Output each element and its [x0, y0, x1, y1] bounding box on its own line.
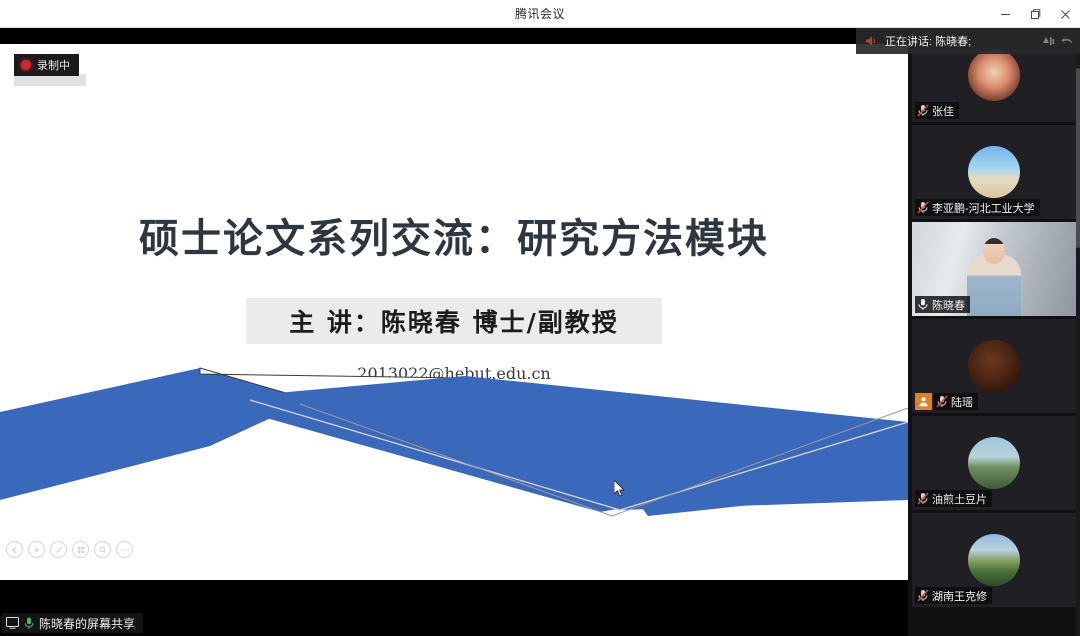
participant-name: 张佳 [932, 103, 954, 119]
slide-title: 硕士论文系列交流：研究方法模块 [0, 206, 908, 264]
avatar [968, 340, 1020, 392]
participant-rail[interactable]: 张佳 李亚鹏-河北工业大学 [908, 28, 1080, 636]
screen-share-chip: 陈晓春的屏幕共享 [2, 613, 143, 633]
participant-name-chip: 陆瑶 [934, 393, 978, 410]
microphone-icon [917, 298, 929, 311]
avatar [968, 437, 1020, 489]
pen-tool-button[interactable] [50, 541, 67, 558]
participant-tile-active-speaker[interactable]: 陈晓春 [912, 222, 1076, 316]
avatar [968, 49, 1020, 101]
participant-name: 陈晓春 [932, 297, 965, 313]
recording-dot-icon [21, 60, 31, 70]
screen-share-status-bar: 陈晓春的屏幕共享 [0, 610, 908, 636]
participant-name-chip: 张佳 [915, 102, 959, 119]
more-options-button[interactable] [116, 541, 133, 558]
participant-name: 李亚鹏-河北工业大学 [932, 200, 1035, 216]
participant-name-chip: 湖南王克修 [915, 587, 992, 604]
participant-name-chip: 李亚鹏-河北工业大学 [915, 199, 1040, 216]
zoom-slide-button[interactable] [94, 541, 111, 558]
speaking-audio-icon [864, 34, 878, 48]
host-badge-icon [915, 393, 932, 410]
collapse-arrow-icon[interactable] [1060, 35, 1074, 48]
participant-name: 湖南王克修 [932, 588, 987, 604]
minimize-button[interactable] [990, 0, 1020, 28]
participant-rail-scrollbar[interactable] [1076, 28, 1080, 636]
microphone-muted-icon [936, 395, 948, 408]
microphone-muted-icon [917, 492, 929, 505]
screen-share-label: 陈晓春的屏幕共享 [39, 615, 135, 632]
all-slides-grid-button[interactable] [72, 541, 89, 558]
previous-slide-button[interactable] [6, 541, 23, 558]
ppt-presenter-toolbar[interactable] [6, 541, 133, 558]
microphone-icon [24, 617, 34, 630]
tencent-meeting-window: 腾讯会议 硕士论文系列交流：研究方法模块 主 讲：陈晓春 博士/副教授 2013… [0, 0, 1080, 636]
screen-share-icon [6, 617, 19, 629]
avatar [968, 146, 1020, 198]
next-slide-button[interactable] [28, 541, 45, 558]
participant-tile[interactable]: 油煎土豆片 [912, 416, 1076, 510]
presentation-slide: 硕士论文系列交流：研究方法模块 主 讲：陈晓春 博士/副教授 2013022@h… [0, 44, 908, 580]
shared-screen-stage[interactable]: 硕士论文系列交流：研究方法模块 主 讲：陈晓春 博士/副教授 2013022@h… [0, 28, 908, 636]
slide-decorative-ribbon-graphic [0, 360, 908, 580]
maximize-button[interactable] [1020, 0, 1050, 28]
microphone-muted-icon [917, 201, 929, 214]
recording-label: 录制中 [37, 57, 70, 73]
active-speaker-label: 正在讲话: 陈晓春; [885, 33, 1035, 49]
slide-subtitle: 主 讲：陈晓春 博士/副教授 [289, 303, 619, 339]
participant-name: 油煎土豆片 [932, 491, 987, 507]
window-title-bar: 腾讯会议 [0, 0, 1080, 28]
scrollbar-thumb[interactable] [1076, 68, 1080, 248]
microphone-muted-icon [917, 104, 929, 117]
window-title: 腾讯会议 [515, 5, 565, 22]
participant-name-chip: 油煎土豆片 [915, 490, 992, 507]
window-controls [990, 0, 1080, 28]
audio-wave-icon[interactable] [1042, 35, 1056, 48]
participant-name-chip: 陈晓春 [915, 296, 970, 313]
microphone-muted-icon [917, 589, 929, 602]
banner-icon-group[interactable] [1042, 35, 1074, 48]
participant-name: 陆瑶 [951, 394, 973, 410]
slide-subtitle-box: 主 讲：陈晓春 博士/副教授 [246, 298, 662, 344]
participant-tile[interactable]: 李亚鹏-河北工业大学 [912, 125, 1076, 219]
close-button[interactable] [1050, 0, 1080, 28]
active-speaker-banner[interactable]: 正在讲话: 陈晓春; [856, 28, 1080, 54]
recording-indicator[interactable]: 录制中 [14, 54, 79, 76]
participant-tile[interactable]: 陆瑶 [912, 319, 1076, 413]
participant-tile[interactable]: 湖南王克修 [912, 513, 1076, 607]
avatar [968, 534, 1020, 586]
